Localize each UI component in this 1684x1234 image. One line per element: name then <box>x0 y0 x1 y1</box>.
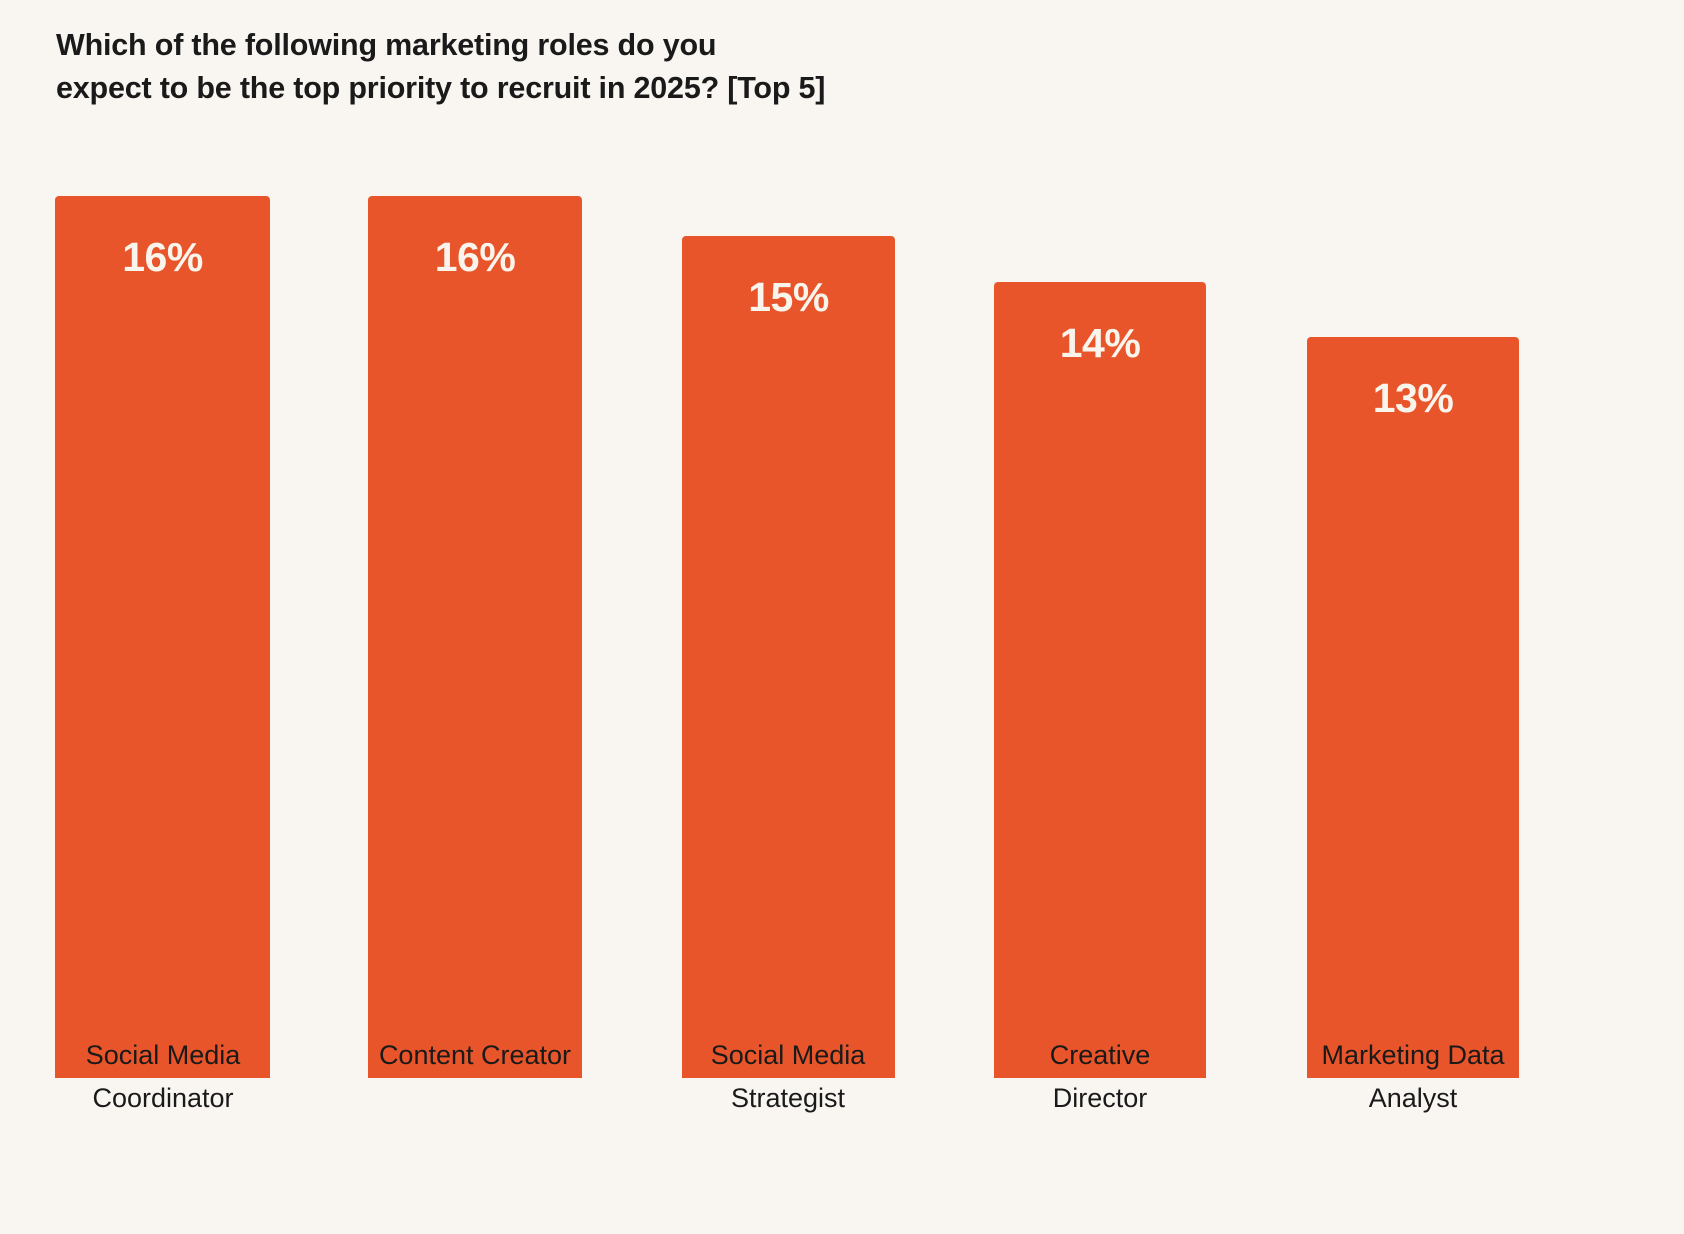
bar-group: 15% <box>682 236 895 1078</box>
category-label: Content Creator <box>345 1034 605 1077</box>
bar-group: 16% <box>55 196 270 1078</box>
category-label: Creative Director <box>970 1034 1230 1119</box>
bar[interactable] <box>994 282 1206 1078</box>
category-label: Social Media Strategist <box>658 1034 918 1119</box>
bar-value-label: 13% <box>1307 375 1519 422</box>
chart-container: Which of the following marketing roles d… <box>0 0 1684 1234</box>
category-label: Marketing Data Analyst <box>1283 1034 1543 1119</box>
bar-value-label: 16% <box>368 234 582 281</box>
bar-group: 14% <box>994 282 1206 1078</box>
bar[interactable] <box>1307 337 1519 1078</box>
bar-group: 16% <box>368 196 582 1078</box>
bar-group: 13% <box>1307 337 1519 1078</box>
bar-value-label: 15% <box>682 274 895 321</box>
category-label: Social Media Coordinator <box>32 1034 294 1119</box>
bar[interactable] <box>55 196 270 1078</box>
bar[interactable] <box>682 236 895 1078</box>
bar-value-label: 16% <box>55 234 270 281</box>
bar-value-label: 14% <box>994 320 1206 367</box>
bar[interactable] <box>368 196 582 1078</box>
plot-area: 16% 16% 15% 14% 13% Social Media Coordin… <box>0 0 1684 1234</box>
